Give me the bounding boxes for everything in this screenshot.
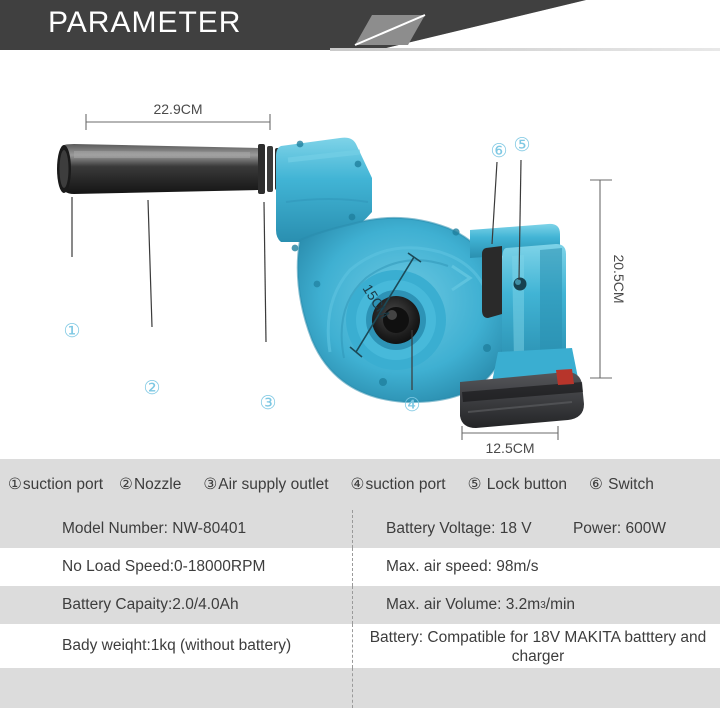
spec-battery-compatibility: Battery: Compatible for 18V MAKITA battt… xyxy=(352,624,720,668)
legend-band: ① suction port ② Nozzle ③ Air supply out… xyxy=(0,459,720,510)
dimension-line-battery-width xyxy=(462,426,558,440)
spec-row-2: No Load Speed:0-18000RPM Max. air speed:… xyxy=(0,548,720,586)
header-underline xyxy=(330,48,720,51)
legend-number-6: ⑥ xyxy=(589,475,603,494)
nozzle-tube xyxy=(57,144,258,194)
spec-battery-capacity: Battery Capaity:2.0/4.0Ah xyxy=(0,586,352,624)
legend-label-3: Air supply outlet xyxy=(218,476,328,494)
callout-marker-6: ⑥ xyxy=(490,140,507,162)
table-footer-band xyxy=(0,668,720,708)
column-divider xyxy=(352,548,354,586)
spec-row-3: Battery Capaity:2.0/4.0Ah Max. air Volum… xyxy=(0,586,720,624)
dimension-label-nozzle-length: 22.9CM xyxy=(153,101,202,117)
spec-battery-voltage: Battery Voltage: 18 V xyxy=(386,520,532,538)
spec-body-weight: Bady weiqht:1kq (without battery) xyxy=(0,624,352,668)
spec-row-1: Model Number: NW-80401 Battery Voltage: … xyxy=(0,510,720,548)
legend-item-6: ⑥ Switch xyxy=(589,475,654,494)
legend-item-4: ④ suction port xyxy=(351,475,446,494)
callout-marker-1: ① xyxy=(63,320,80,342)
legend-number-2: ② xyxy=(119,475,133,494)
product-diagram: 22.9CM xyxy=(0,52,720,457)
callout-marker-5: ⑤ xyxy=(513,134,530,156)
spec-row-4: Bady weiqht:1kq (without battery) Batter… xyxy=(0,624,720,668)
callout-marker-2: ② xyxy=(143,377,160,399)
callout-marker-4: ④ xyxy=(403,394,420,416)
callout-marker-3: ③ xyxy=(259,392,276,414)
legend-number-5: ⑤ xyxy=(468,475,482,494)
column-divider xyxy=(352,668,354,708)
dimension-line-overall-height xyxy=(590,180,612,378)
legend-label-2: Nozzle xyxy=(134,476,181,494)
spec-max-air-volume-suffix: /min xyxy=(546,596,575,614)
spec-max-air-volume-prefix: Max. air Volume: 3.2m xyxy=(386,596,540,614)
column-divider xyxy=(352,586,354,624)
specification-table: Model Number: NW-80401 Battery Voltage: … xyxy=(0,510,720,718)
legend-item-3: ③ Air supply outlet xyxy=(203,475,328,494)
dimension-label-battery-width: 12.5CM xyxy=(485,440,534,456)
legend-label-4: suction port xyxy=(365,476,445,494)
legend-label-5: Lock button xyxy=(487,476,567,494)
column-divider xyxy=(352,624,354,668)
legend-label-6: Switch xyxy=(608,476,654,494)
legend-number-1: ① xyxy=(8,475,22,494)
spec-model-number: Model Number: NW-80401 xyxy=(0,510,352,548)
legend-item-1: ① suction port xyxy=(8,475,103,494)
header-banner: PARAMETER xyxy=(0,0,720,52)
column-divider xyxy=(352,510,354,548)
spec-no-load-speed: No Load Speed:0-18000RPM xyxy=(0,548,352,586)
legend-number-3: ③ xyxy=(203,475,217,494)
legend-item-5: ⑤ Lock button xyxy=(468,475,567,494)
blower-illustration: 22.9CM xyxy=(0,52,720,457)
legend-number-4: ④ xyxy=(351,475,365,494)
legend-item-2: ② Nozzle xyxy=(119,475,181,494)
page-title: PARAMETER xyxy=(48,6,241,40)
legend-label-1: suction port xyxy=(23,476,103,494)
spec-max-air-volume: Max. air Volume: 3.2m3/min xyxy=(352,586,720,624)
spec-max-air-speed: Max. air speed: 98m/s xyxy=(352,548,720,586)
spec-power: Power: 600W xyxy=(573,520,710,538)
dimension-label-overall-height: 20.5CM xyxy=(611,254,627,303)
